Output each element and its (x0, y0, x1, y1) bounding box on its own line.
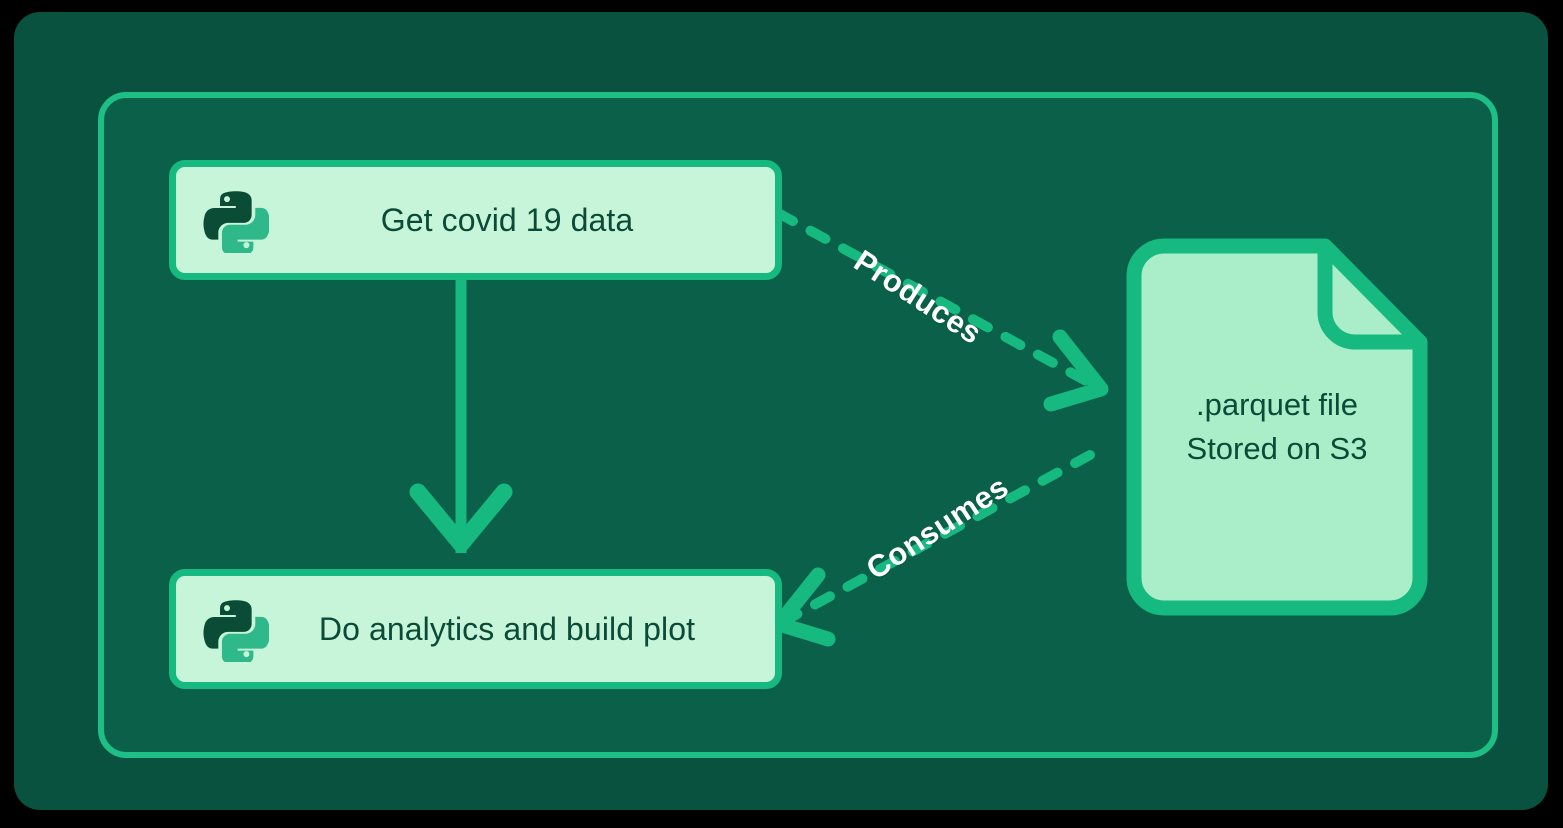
node-parquet-file[interactable]: .parquet file Stored on S3 (1126, 238, 1428, 616)
outer-card: Get covid 19 data Do analytics and build… (14, 12, 1548, 810)
node-get-covid-data[interactable]: Get covid 19 data (169, 160, 782, 280)
python-logo-icon (203, 187, 269, 253)
node-label: Do analytics and build plot (269, 611, 775, 648)
edge-task-flow (418, 268, 504, 553)
python-logo-icon (203, 596, 269, 662)
diagram-canvas: Get covid 19 data Do analytics and build… (0, 0, 1563, 828)
node-label: Get covid 19 data (269, 202, 775, 239)
node-do-analytics[interactable]: Do analytics and build plot (169, 569, 782, 689)
file-document-icon (1126, 238, 1428, 616)
